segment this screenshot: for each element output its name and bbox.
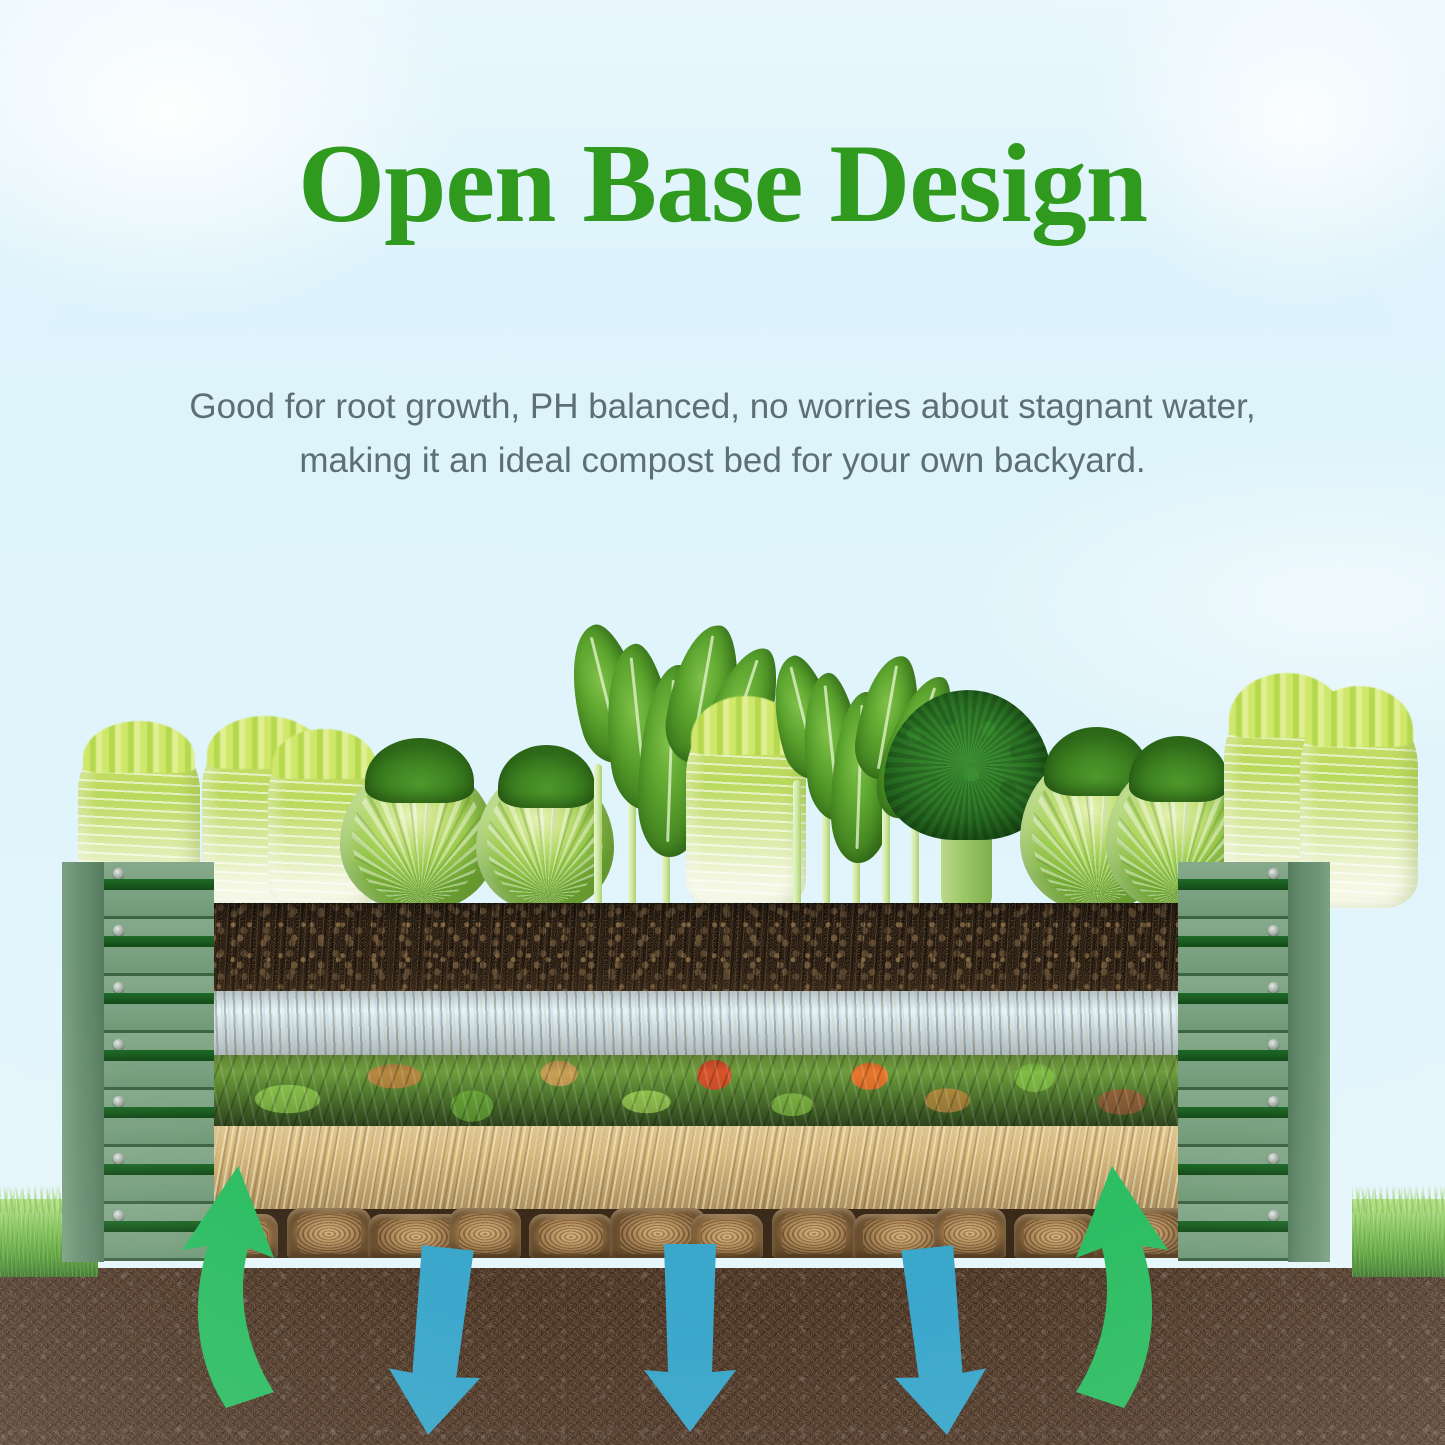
airflow-arrow-down-1 [382, 1243, 493, 1440]
airflow-arrow-down-center [644, 1244, 736, 1432]
infographic-canvas: Open Base Design Good for root growth, P… [0, 0, 1445, 1445]
airflow-arrow-up-left [182, 1166, 274, 1408]
airflow-arrow-down-3 [881, 1243, 992, 1440]
airflow-arrow-group [0, 0, 1445, 1445]
airflow-arrow-up-right [1076, 1166, 1168, 1408]
